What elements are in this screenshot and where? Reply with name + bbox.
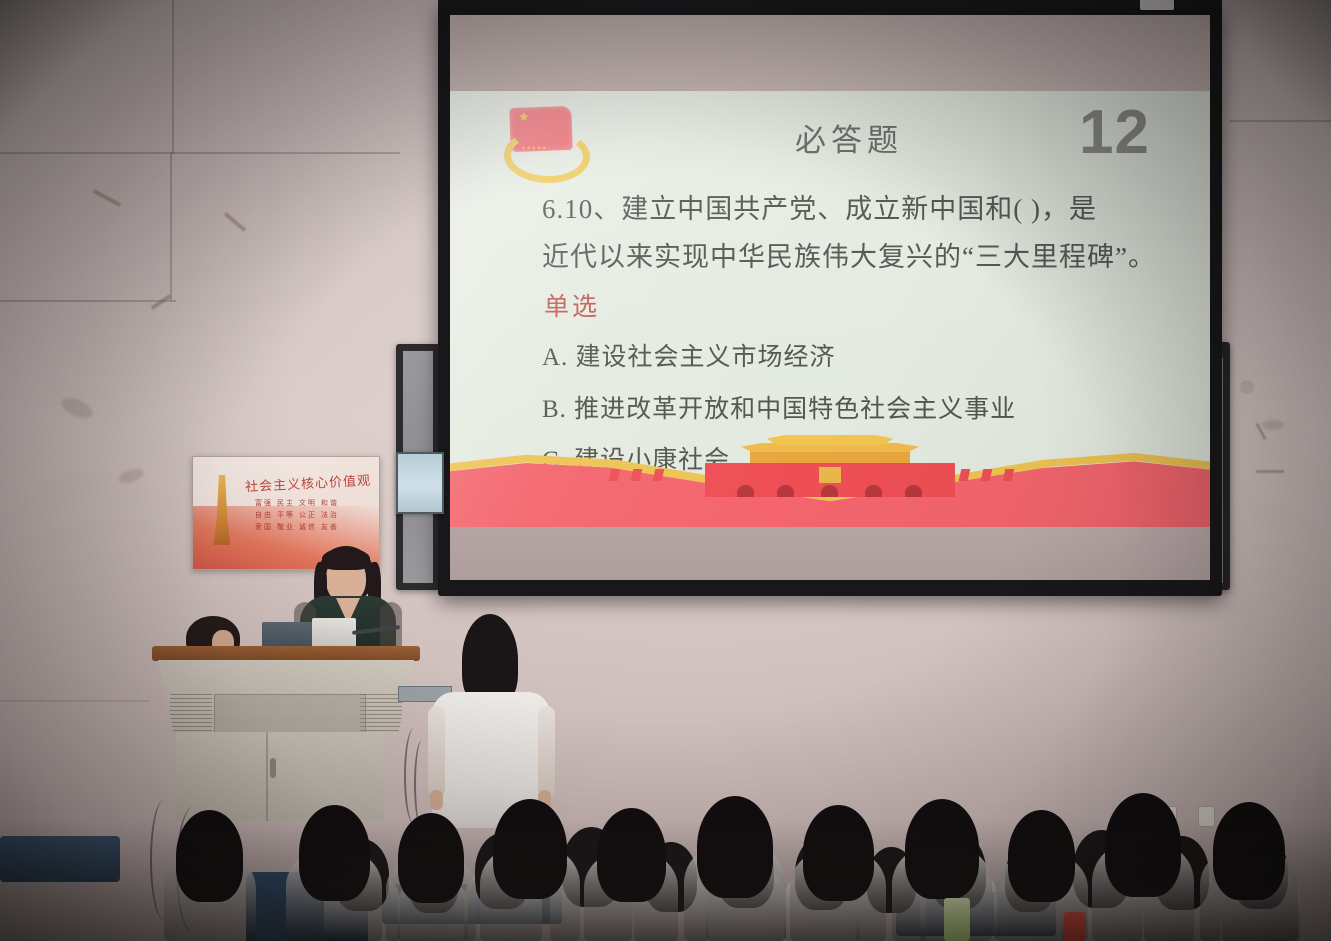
scene-vignette (0, 0, 1331, 941)
classroom-scene: ★ ••••• 必答题 12 6.10、建立中国共产党、成立新中国和( )，是 … (0, 0, 1331, 941)
